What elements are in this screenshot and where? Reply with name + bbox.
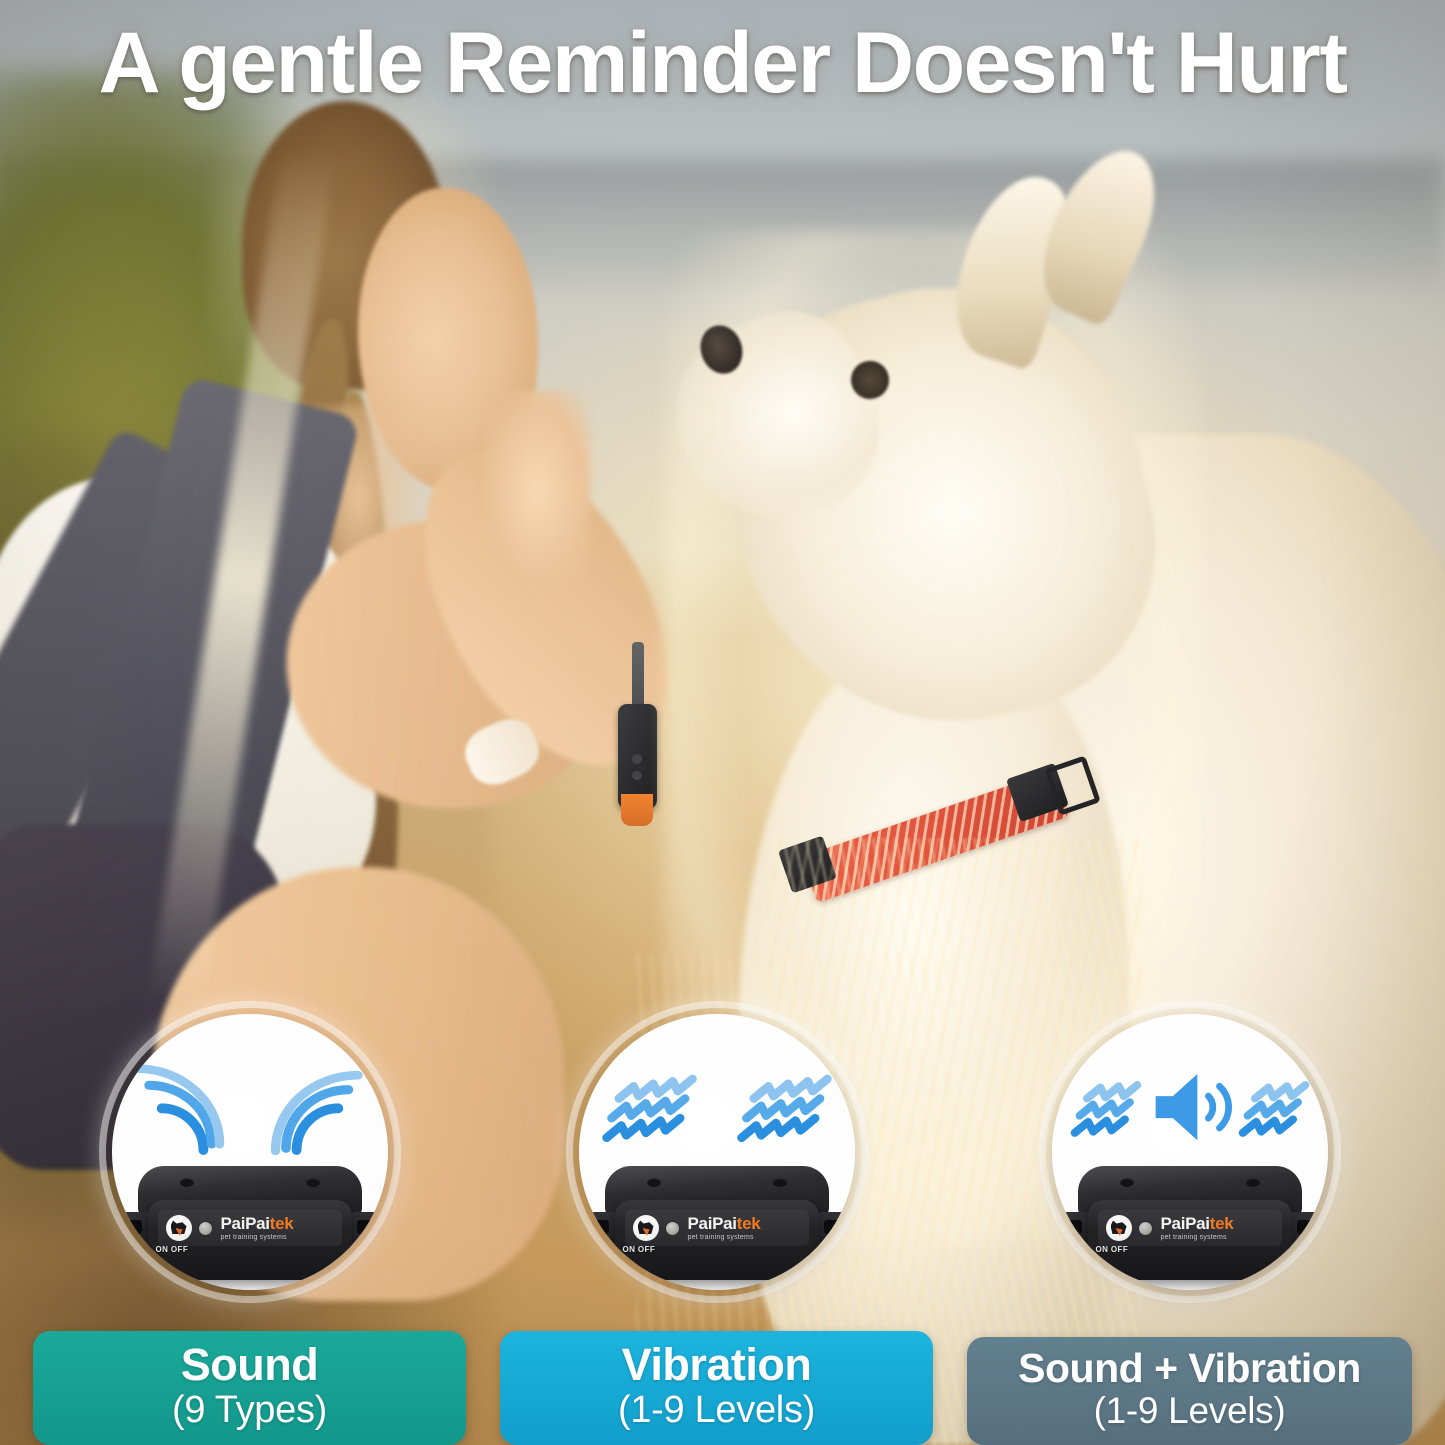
feature-sound-disc: PaiPaitek pet training systems ON OFF [99, 1001, 401, 1303]
feature-vibration-label[interactable]: Vibration (1-9 Levels) [500, 1331, 933, 1445]
brand-tagline: pet training systems [221, 1234, 342, 1241]
feature-sound-label[interactable]: Sound (9 Types) [33, 1331, 466, 1445]
brand-tagline: pet training systems [1161, 1234, 1282, 1241]
brand-accent: tek [737, 1214, 761, 1233]
remote-body [618, 704, 658, 809]
collar-receiver: PaiPaitek pet training systems ON OFF [1064, 1166, 1316, 1284]
device-clip-right [1288, 1212, 1322, 1258]
brand-name: PaiPai [221, 1214, 270, 1233]
status-led-icon [198, 1221, 213, 1236]
brand-tagline: pet training systems [688, 1234, 809, 1241]
brand-accent: tek [1210, 1214, 1234, 1233]
dog-head-logo-icon [166, 1215, 192, 1241]
device-face-plate: PaiPaitek pet training systems [625, 1210, 809, 1246]
device-screw-left [647, 1178, 661, 1187]
feature-vibration-disc: PaiPaitek pet training systems ON OFF [566, 1001, 868, 1303]
feature-sound-vibration[interactable]: PaiPaitek pet training systems ON OFF So… [967, 1337, 1412, 1445]
device-screw-left [180, 1178, 194, 1187]
device-face-plate: PaiPaitek pet training systems [158, 1210, 342, 1246]
brand-name: PaiPai [1161, 1214, 1210, 1233]
sound-waves-icon [112, 1047, 388, 1157]
feature-sound-vibration-disc: PaiPaitek pet training systems ON OFF [1039, 1001, 1341, 1303]
feature-subtitle: (9 Types) [41, 1390, 458, 1432]
feature-sound[interactable]: PaiPaitek pet training systems ON OFF So… [33, 1331, 466, 1445]
dog-head-logo-icon [633, 1215, 659, 1241]
feature-subtitle: (1-9 Levels) [975, 1391, 1404, 1432]
status-led-icon [1138, 1221, 1153, 1236]
feature-subtitle: (1-9 Levels) [508, 1390, 925, 1432]
feature-title: Sound + Vibration [975, 1348, 1404, 1390]
brand-name: PaiPai [688, 1214, 737, 1233]
power-label: ON OFF [1096, 1245, 1129, 1254]
device-clip-left [1058, 1212, 1092, 1258]
feature-vibration[interactable]: PaiPaitek pet training systems ON OFF Vi… [500, 1331, 933, 1445]
feature-title: Sound [41, 1342, 458, 1388]
power-label: ON OFF [623, 1245, 656, 1254]
collar-receiver: PaiPaitek pet training systems ON OFF [124, 1166, 376, 1284]
disc-face: PaiPaitek pet training systems ON OFF [112, 1014, 388, 1290]
collar-receiver: PaiPaitek pet training systems ON OFF [591, 1166, 843, 1284]
hand [484, 390, 592, 592]
dog-head-logo-icon [1106, 1215, 1132, 1241]
feature-sound-vibration-label[interactable]: Sound + Vibration (1-9 Levels) [967, 1337, 1412, 1445]
remote-button-1 [632, 754, 642, 763]
device-screw-right [773, 1178, 787, 1187]
vibration-zigzag-icon [579, 1047, 855, 1157]
device-clip-right [815, 1212, 849, 1258]
device-brand: PaiPaitek pet training systems [1159, 1215, 1282, 1241]
brand-accent: tek [270, 1214, 294, 1233]
remote-orange-accent [621, 794, 653, 826]
product-marketing-image: A gentle Reminder Doesn't Hurt [0, 0, 1445, 1445]
device-clip-left [118, 1212, 152, 1258]
device-brand: PaiPaitek pet training systems [686, 1215, 809, 1241]
feature-title: Vibration [508, 1342, 925, 1388]
device-clip-left [585, 1212, 619, 1258]
disc-face: PaiPaitek pet training systems ON OFF [579, 1014, 855, 1290]
device-screw-right [1246, 1178, 1260, 1187]
device-face-plate: PaiPaitek pet training systems [1098, 1210, 1282, 1246]
power-label: ON OFF [156, 1245, 189, 1254]
remote-button-2 [632, 771, 642, 780]
handheld-remote-transmitter [613, 642, 665, 830]
device-screw-right [306, 1178, 320, 1187]
page-title: A gentle Reminder Doesn't Hurt [0, 14, 1445, 113]
device-clip-right [348, 1212, 382, 1258]
device-screw-left [1120, 1178, 1134, 1187]
disc-face: PaiPaitek pet training systems ON OFF [1052, 1014, 1328, 1290]
status-led-icon [665, 1221, 680, 1236]
device-brand: PaiPaitek pet training systems [219, 1215, 342, 1241]
speaker-with-vibration-icon [1052, 1047, 1328, 1157]
